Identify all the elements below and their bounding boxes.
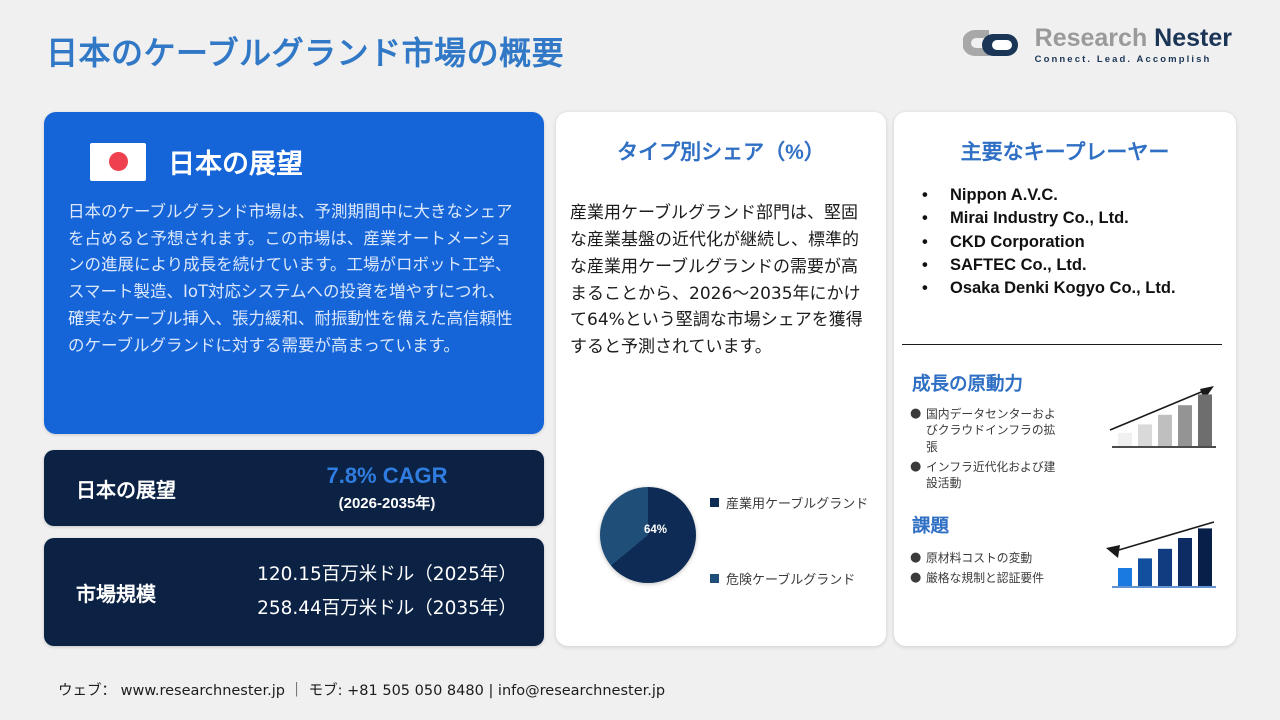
market-size-2035: 258.44百万米ドル（2035年）	[244, 592, 530, 626]
key-player-label: Nippon A.V.C.	[950, 184, 1058, 207]
share-pie-chart: 64% 産業用ケーブルグランド 危険ケーブルグランド	[570, 484, 886, 634]
brand-name: Research Nester	[1035, 24, 1232, 52]
share-heading: タイプ別シェア（%）	[556, 136, 886, 166]
market-size-label: 市場規模	[44, 578, 244, 607]
growth-drivers-heading: 成長の原動力	[912, 370, 1023, 396]
list-item-label: 厳格な規制と認証要件	[926, 570, 1044, 586]
challenges-chart	[1102, 520, 1222, 598]
legend-label-0: 産業用ケーブルグランド	[726, 497, 868, 512]
bullet-icon: •	[922, 231, 950, 254]
key-players-card: 主要なキープレーヤー •Nippon A.V.C.•Mirai Industry…	[894, 112, 1236, 646]
legend-item-0: 産業用ケーブルグランド	[710, 494, 880, 517]
challenges-heading: 課題	[912, 512, 949, 538]
japan-flag-icon	[90, 143, 146, 181]
list-item: ●厳格な規制と認証要件	[910, 570, 1060, 586]
list-item: ●原材料コストの変動	[910, 550, 1060, 566]
key-player-label: CKD Corporation	[950, 231, 1085, 254]
market-size-value-group: 120.15百万米ドル（2025年） 258.44百万米ドル（2035年）	[244, 558, 544, 626]
legend-swatch-1	[710, 574, 719, 583]
growth-drivers-list: ●国内データセンターおよびクラウドインフラの拡張●インフラ近代化および建設活動	[910, 406, 1060, 495]
brand-logo: Research Nester Connect. Lead. Accomplis…	[963, 26, 1232, 65]
bullet-icon: ●	[910, 550, 926, 566]
bullet-icon: •	[922, 184, 950, 207]
bullet-icon: ●	[910, 406, 926, 455]
legend-item-1: 危険ケーブルグランド	[710, 570, 880, 593]
section-divider	[902, 344, 1222, 345]
share-by-type-card: タイプ別シェア（%） 産業用ケーブルグランド部門は、堅固な産業基盤の近代化が継続…	[556, 112, 886, 646]
market-size-2025: 120.15百万米ドル（2025年）	[244, 558, 530, 592]
key-player-label: SAFTEC Co., Ltd.	[950, 254, 1087, 277]
cagr-period: (2026-2035年)	[244, 492, 530, 513]
legend-label-1: 危険ケーブルグランド	[726, 573, 855, 588]
key-player-item: •Mirai Industry Co., Ltd.	[922, 207, 1236, 230]
list-item-label: 原材料コストの変動	[926, 550, 1032, 566]
cagr-value: 7.8% CAGR	[244, 463, 530, 489]
bullet-icon: ●	[910, 570, 926, 586]
outlook-body-text: 日本のケーブルグランド市場は、予測期間中に大きなシェアを占めると予想されます。こ…	[68, 199, 520, 359]
page-title: 日本のケーブルグランド市場の概要	[46, 28, 564, 74]
key-player-item: •SAFTEC Co., Ltd.	[922, 254, 1236, 277]
challenges-list: ●原材料コストの変動●厳格な規制と認証要件	[910, 550, 1060, 591]
research-nester-logo-icon	[963, 26, 1025, 64]
key-players-heading: 主要なキープレーヤー	[894, 136, 1236, 166]
footer-contact: ウェブ： www.researchnester.jp ｜ モブ: +81 505…	[58, 679, 665, 700]
growth-drivers-chart	[1102, 380, 1222, 458]
key-player-label: Mirai Industry Co., Ltd.	[950, 207, 1129, 230]
key-player-item: •Nippon A.V.C.	[922, 184, 1236, 207]
list-item: ●インフラ近代化および建設活動	[910, 459, 1060, 492]
bullet-icon: •	[922, 254, 950, 277]
bullet-icon: ●	[910, 459, 926, 492]
key-player-label: Osaka Denki Kogyo Co., Ltd.	[950, 277, 1176, 300]
bullet-icon: •	[922, 207, 950, 230]
list-item-label: 国内データセンターおよびクラウドインフラの拡張	[926, 406, 1060, 455]
outlook-title: 日本の展望	[168, 142, 303, 181]
key-player-item: •Osaka Denki Kogyo Co., Ltd.	[922, 277, 1236, 300]
brand-tagline: Connect. Lead. Accomplish	[1035, 55, 1232, 65]
list-item-label: インフラ近代化および建設活動	[926, 459, 1060, 492]
slide-canvas: 日本のケーブルグランド市場の概要 Research Nester Connect…	[0, 0, 1280, 720]
list-item: ●国内データセンターおよびクラウドインフラの拡張	[910, 406, 1060, 455]
cagr-value-group: 7.8% CAGR (2026-2035年)	[244, 463, 544, 512]
market-size-stat-card: 市場規模 120.15百万米ドル（2025年） 258.44百万米ドル（2035…	[44, 538, 544, 646]
cagr-stat-card: 日本の展望 7.8% CAGR (2026-2035年)	[44, 450, 544, 526]
bullet-icon: •	[922, 277, 950, 300]
outlook-header: 日本の展望	[90, 142, 520, 181]
share-body-text: 産業用ケーブルグランド部門は、堅固な産業基盤の近代化が継続し、標準的な産業用ケー…	[570, 200, 866, 361]
pie-data-label: 64%	[644, 524, 667, 536]
japan-outlook-panel: 日本の展望 日本のケーブルグランド市場は、予測期間中に大きなシェアを占めると予想…	[44, 112, 544, 434]
key-player-item: •CKD Corporation	[922, 231, 1236, 254]
cagr-label: 日本の展望	[44, 474, 244, 503]
legend-swatch-0	[710, 498, 719, 507]
key-players-list: •Nippon A.V.C.•Mirai Industry Co., Ltd.•…	[922, 184, 1236, 300]
